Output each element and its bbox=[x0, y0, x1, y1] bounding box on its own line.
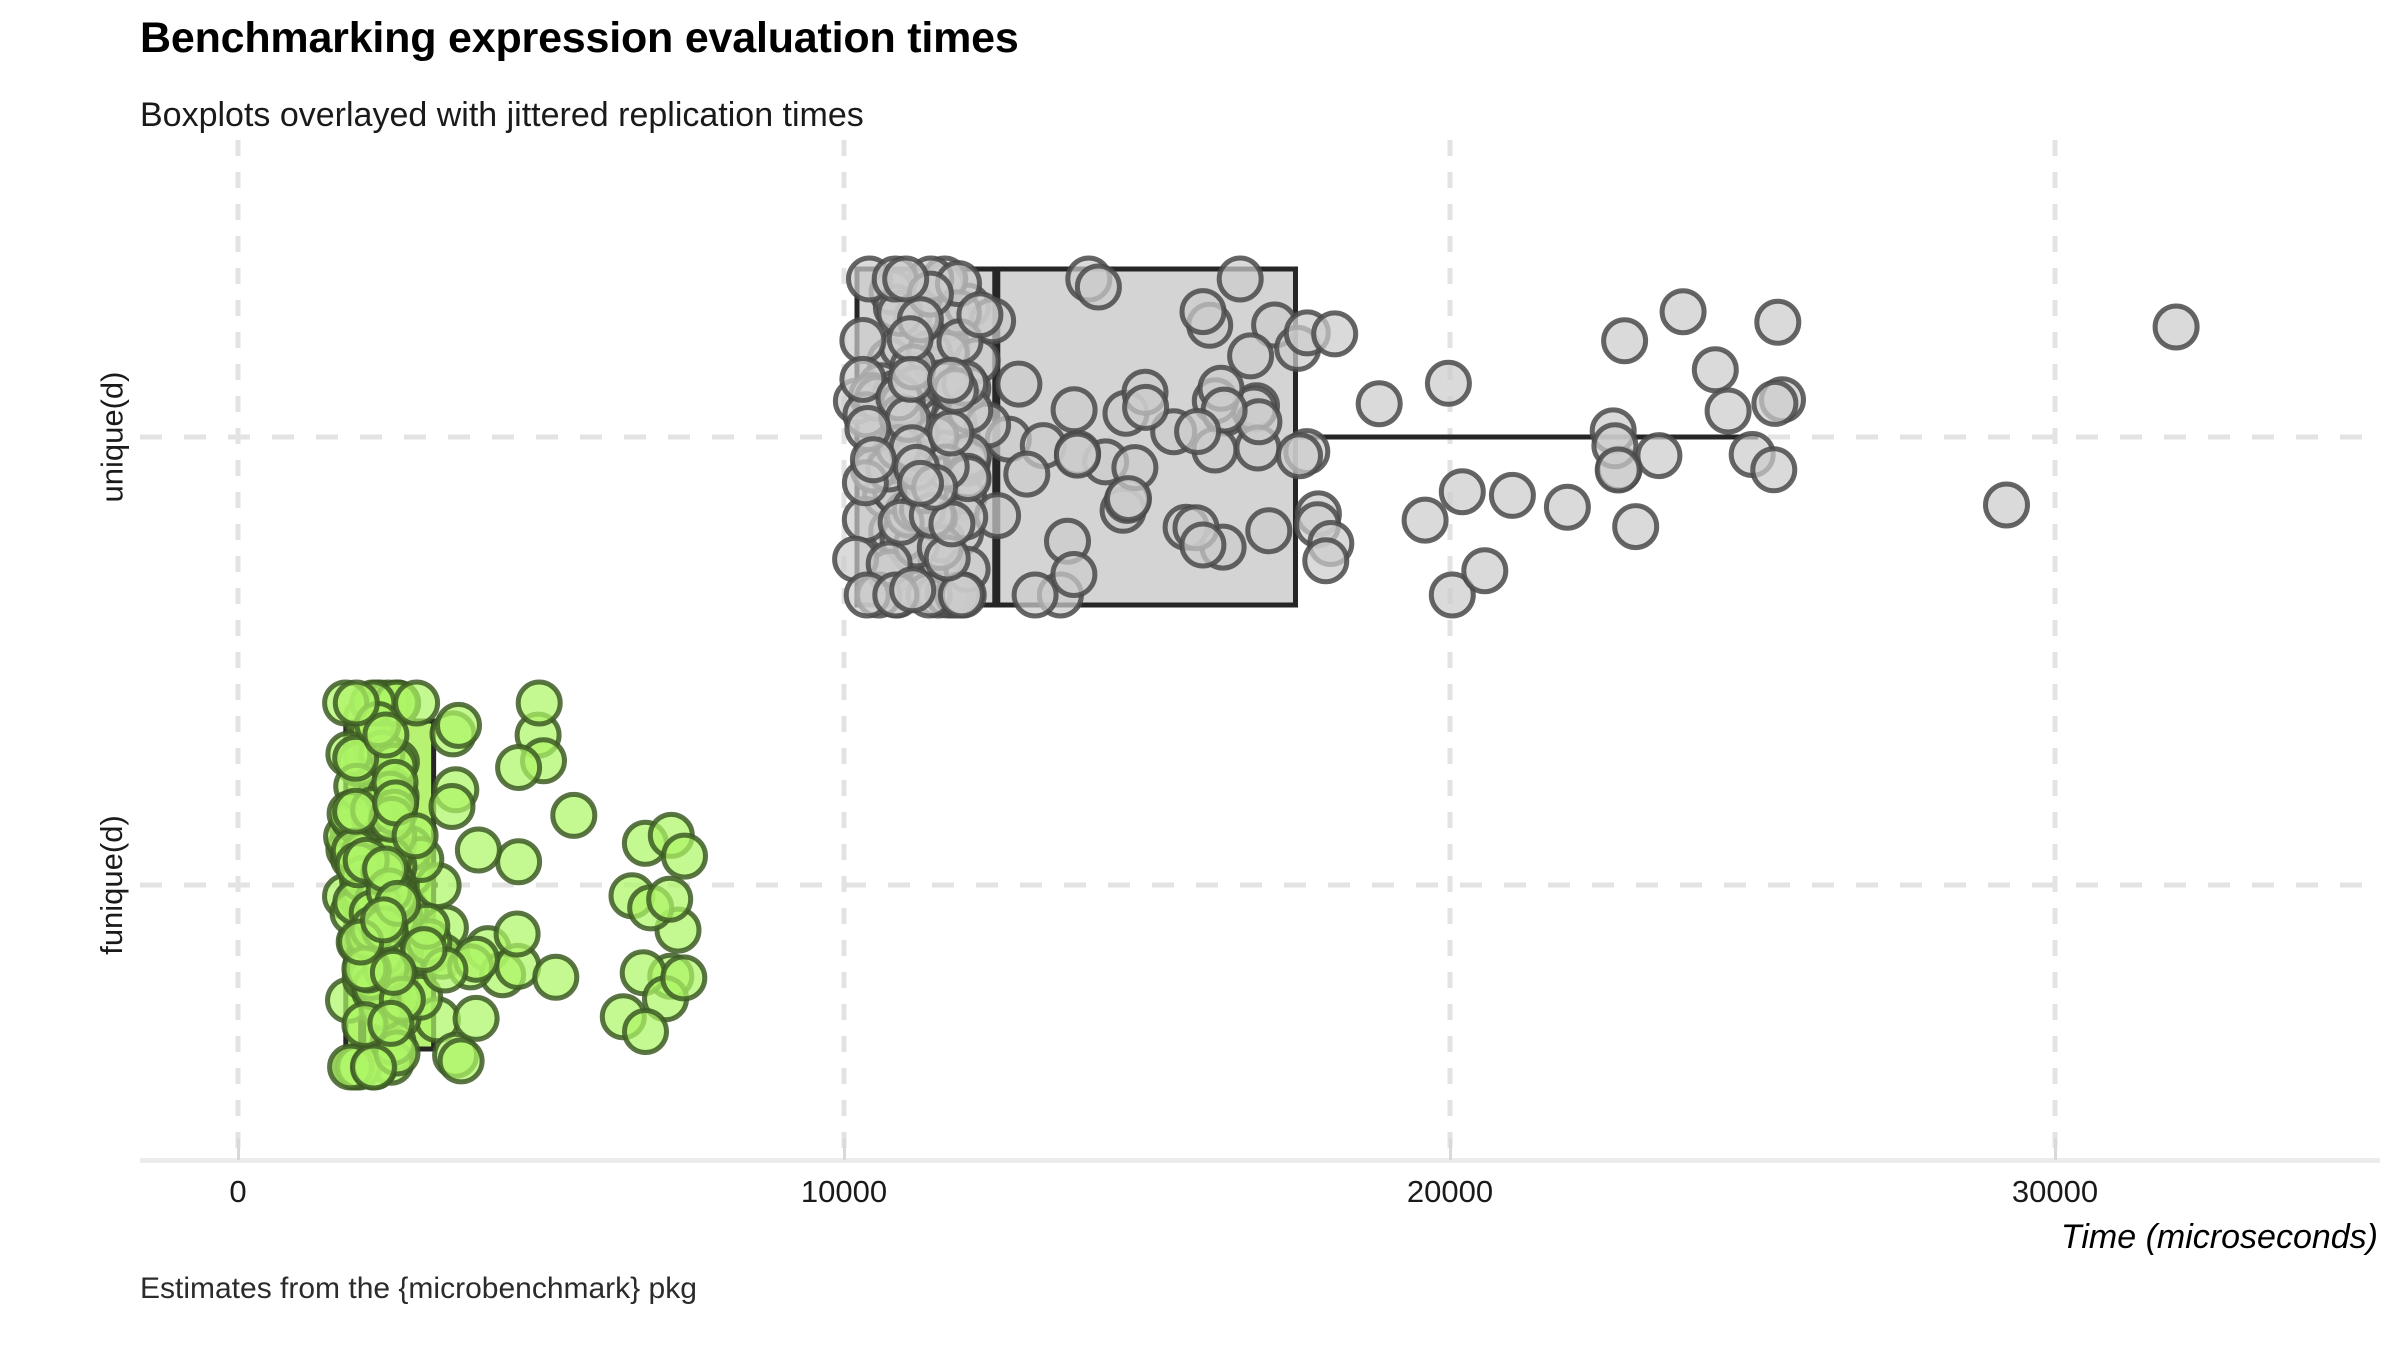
data-point bbox=[1053, 554, 1095, 596]
chart-root: Benchmarking expression evaluation times… bbox=[0, 0, 2400, 1350]
data-point bbox=[1754, 382, 1796, 424]
jitter-points-funique bbox=[325, 682, 706, 1088]
data-point bbox=[431, 786, 473, 828]
data-point bbox=[352, 1046, 394, 1088]
data-point bbox=[1427, 362, 1469, 404]
data-point bbox=[959, 294, 1001, 336]
data-point bbox=[1694, 349, 1736, 391]
data-point bbox=[1014, 574, 1056, 616]
x-tick-mark bbox=[2054, 1138, 2057, 1160]
x-tick-mark bbox=[237, 1138, 240, 1160]
data-point bbox=[370, 1002, 412, 1044]
data-point bbox=[535, 956, 577, 998]
data-point bbox=[1006, 453, 1048, 495]
data-point bbox=[1464, 550, 1506, 592]
data-point bbox=[900, 462, 942, 504]
data-point bbox=[1638, 435, 1680, 477]
x-axis-line bbox=[140, 1158, 2380, 1163]
data-point bbox=[518, 682, 560, 724]
data-point bbox=[1597, 449, 1639, 491]
data-point bbox=[1248, 510, 1290, 552]
y-tick-label: funique(d) bbox=[94, 815, 130, 955]
data-point bbox=[335, 790, 377, 832]
data-point bbox=[649, 878, 691, 920]
x-tick-mark bbox=[843, 1138, 846, 1160]
data-point bbox=[663, 957, 705, 999]
data-point-outlier bbox=[2155, 306, 2197, 348]
data-point bbox=[664, 835, 706, 877]
page-title: Benchmarking expression evaluation times bbox=[140, 14, 1019, 63]
data-point-outlier bbox=[1986, 484, 2028, 526]
x-axis-title: Time (microseconds) bbox=[2061, 1218, 2378, 1257]
data-point bbox=[1305, 540, 1347, 582]
data-point bbox=[1757, 301, 1799, 343]
data-point bbox=[1182, 524, 1224, 566]
data-point bbox=[1219, 258, 1261, 300]
data-point bbox=[1056, 434, 1098, 476]
data-point bbox=[1314, 313, 1356, 355]
data-point bbox=[842, 320, 884, 362]
data-point bbox=[1177, 411, 1219, 453]
data-point bbox=[930, 359, 972, 401]
data-point bbox=[1125, 386, 1167, 428]
data-point bbox=[998, 363, 1040, 405]
data-point bbox=[1279, 435, 1321, 477]
data-point bbox=[440, 1040, 482, 1082]
data-point bbox=[553, 794, 595, 836]
data-point bbox=[498, 841, 540, 883]
data-point bbox=[396, 682, 438, 724]
data-point bbox=[1753, 449, 1795, 491]
jitter-points-unique bbox=[835, 258, 1804, 616]
data-point bbox=[335, 682, 377, 724]
x-tick-label: 10000 bbox=[801, 1174, 887, 1210]
data-point bbox=[892, 569, 934, 611]
data-point bbox=[1077, 266, 1119, 308]
data-point bbox=[455, 997, 497, 1039]
data-point bbox=[1358, 383, 1400, 425]
x-tick-label: 20000 bbox=[1407, 1174, 1493, 1210]
data-point bbox=[1707, 390, 1749, 432]
data-point bbox=[498, 747, 540, 789]
data-point bbox=[496, 913, 538, 955]
plot-subtitle: Boxplots overlayed with jittered replica… bbox=[140, 96, 864, 135]
data-point bbox=[1615, 506, 1657, 548]
x-tick-label: 30000 bbox=[2012, 1174, 2098, 1210]
plot-canvas bbox=[140, 140, 2380, 1160]
data-point bbox=[363, 899, 405, 941]
data-point bbox=[625, 1011, 667, 1053]
x-tick-mark bbox=[1449, 1138, 1452, 1160]
data-point bbox=[890, 358, 932, 400]
data-point bbox=[1491, 474, 1533, 516]
data-point bbox=[930, 412, 972, 454]
data-point bbox=[889, 318, 931, 360]
data-point bbox=[372, 951, 414, 993]
data-point bbox=[1604, 320, 1646, 362]
data-point bbox=[1441, 471, 1483, 513]
y-tick-label: unique(d) bbox=[94, 372, 130, 503]
data-point bbox=[1662, 291, 1704, 333]
data-point bbox=[438, 704, 480, 746]
data-point bbox=[885, 258, 927, 300]
x-tick-label: 0 bbox=[229, 1174, 246, 1210]
outliers-unique bbox=[1986, 306, 2198, 526]
data-point bbox=[852, 439, 894, 481]
data-point bbox=[394, 815, 436, 857]
plot-caption: Estimates from the {microbenchmark} pkg bbox=[140, 1272, 697, 1306]
data-point bbox=[457, 829, 499, 871]
data-point bbox=[1053, 389, 1095, 431]
plot-panel bbox=[140, 140, 2380, 1160]
data-point bbox=[1404, 499, 1446, 541]
data-point bbox=[1546, 486, 1588, 528]
data-point bbox=[1182, 291, 1224, 333]
data-point bbox=[1108, 478, 1150, 520]
